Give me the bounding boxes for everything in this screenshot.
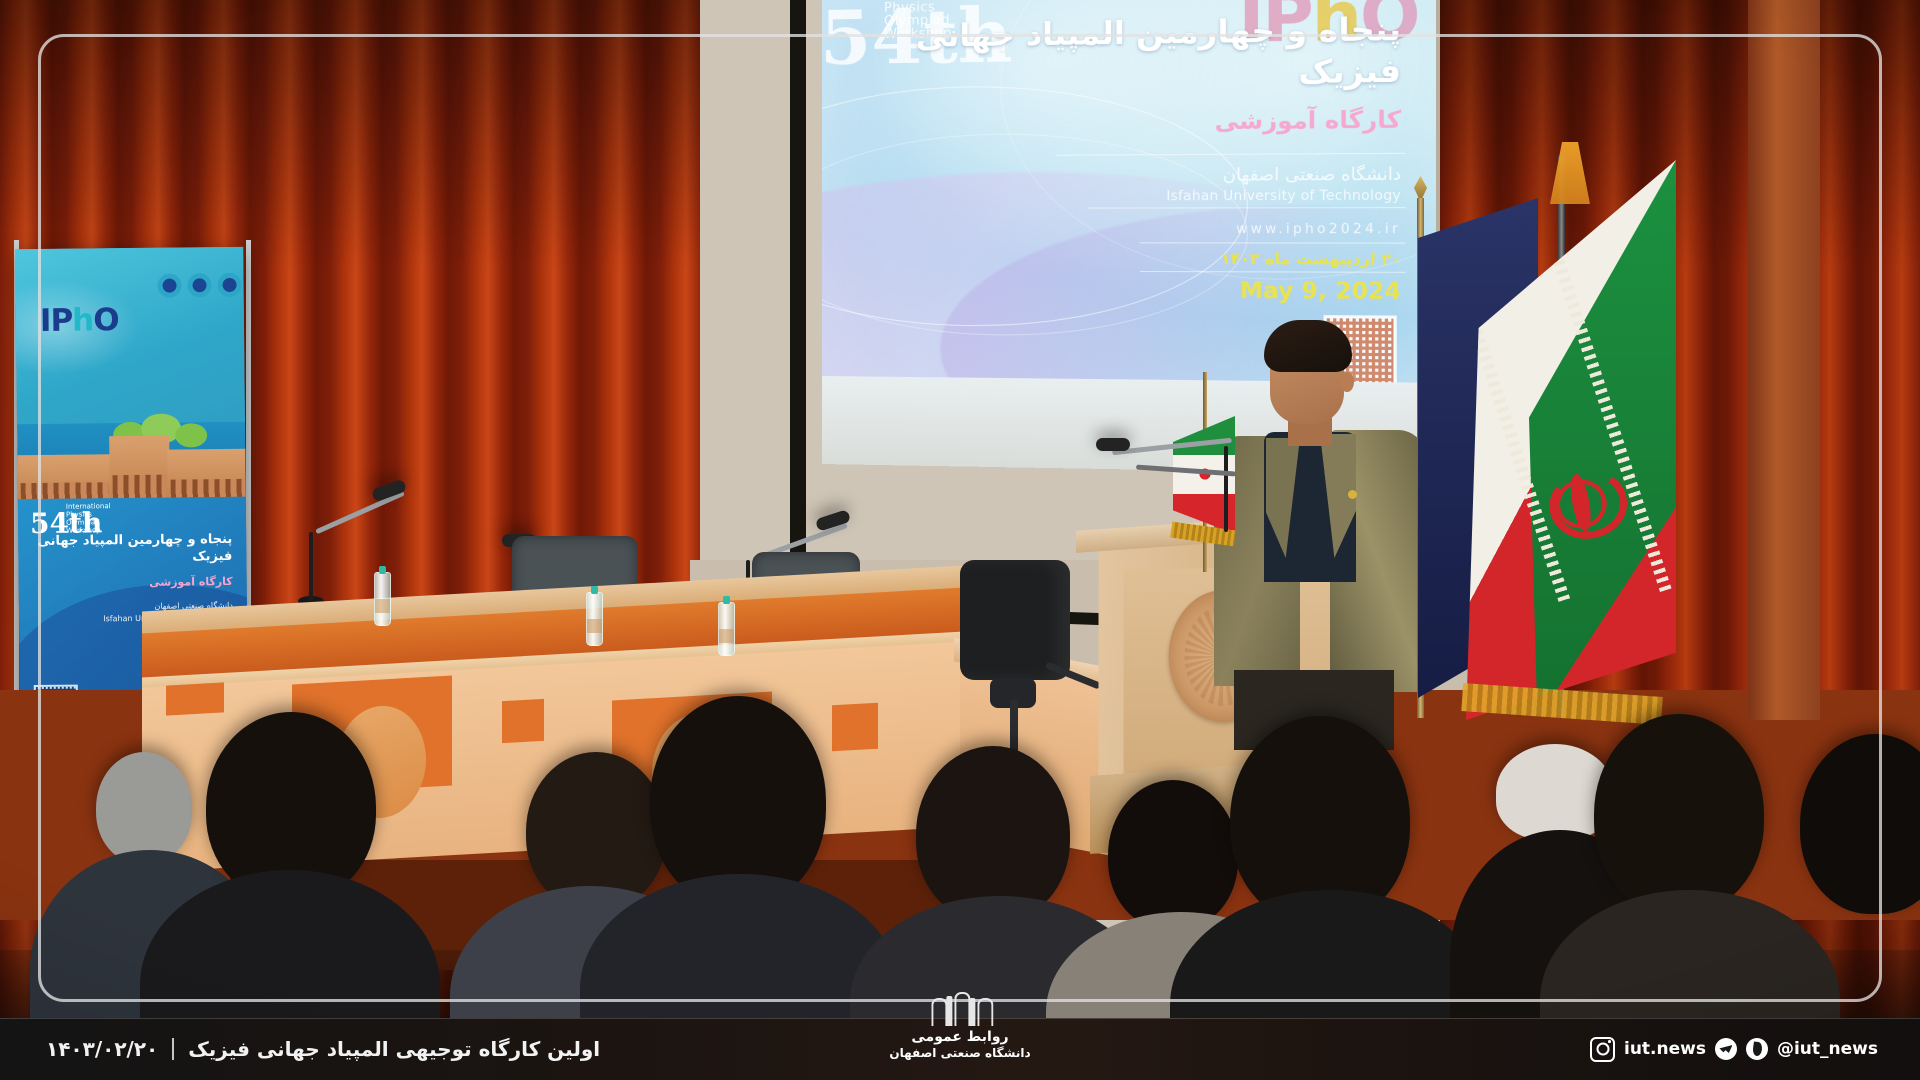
footer-caption-group: اولین کارگاه توجیهی المپیاد جهانی فیزیک … bbox=[46, 1018, 600, 1080]
iran-emblem-icon bbox=[1532, 453, 1628, 542]
podium-microphone bbox=[1096, 420, 1266, 520]
flag-finial-tassel-icon bbox=[1550, 142, 1590, 204]
bale-icon[interactable] bbox=[1746, 1038, 1768, 1060]
water-bottle-1 bbox=[374, 572, 391, 626]
footer-org-line1: روابط عمومی bbox=[911, 1029, 1008, 1045]
seal-icon-3 bbox=[217, 273, 241, 297]
audience-head bbox=[1594, 714, 1764, 914]
telegram-icon[interactable] bbox=[1715, 1038, 1737, 1060]
photo-canvas: IPhO 54th International Physics Olympiad… bbox=[0, 0, 1920, 1080]
lapel-pin-icon bbox=[1348, 490, 1357, 499]
screen-website: www.ipho2024.ir bbox=[1236, 222, 1401, 238]
footer-bar: اولین کارگاه توجیهی المپیاد جهانی فیزیک … bbox=[0, 1018, 1920, 1080]
wall-wood-column bbox=[1748, 0, 1820, 720]
iut-building-logo-icon bbox=[929, 992, 991, 1026]
footer-caption-fa: اولین کارگاه توجیهی المپیاد جهانی فیزیک bbox=[188, 1037, 600, 1061]
screen-org-en: Isfahan University of Technology bbox=[1166, 188, 1401, 204]
seal-icon-2 bbox=[187, 273, 211, 297]
seal-icon-1 bbox=[157, 273, 181, 297]
screen-org-fa: دانشگاه صنعتی اصفهان bbox=[1223, 163, 1401, 187]
screen-title-fa: پنجاه و چهارمین المپیاد جهانی فیزیک bbox=[822, 9, 1401, 98]
water-bottle-2 bbox=[586, 592, 603, 646]
audience-head bbox=[1800, 734, 1920, 914]
footer-social-group: iut.news @iut_news bbox=[1590, 1018, 1878, 1080]
standee-title-fa: پنجاه و چهارمین المپیاد جهانی فیزیک bbox=[18, 531, 232, 567]
naqsh-e-jahan-illustration bbox=[17, 395, 246, 507]
audience-head bbox=[1108, 780, 1238, 930]
standee-english-subtitle: International Physics Olympiad Workshop bbox=[66, 502, 111, 534]
public-relations-brand: روابط عمومی دانشگاه صنعتی اصفهان bbox=[889, 992, 1030, 1060]
footer-separator bbox=[172, 1038, 174, 1060]
screen-date-en: May 9, 2024 bbox=[1240, 279, 1401, 306]
screen-subtitle-fa: کارگاه آموزشی bbox=[1215, 107, 1401, 135]
audience-head bbox=[96, 752, 192, 864]
water-bottle-3 bbox=[718, 602, 735, 656]
footer-date-fa: ۱۴۰۳/۰۲/۲۰ bbox=[46, 1037, 158, 1061]
footer-org-line2: دانشگاه صنعتی اصفهان bbox=[889, 1046, 1030, 1060]
instagram-icon[interactable] bbox=[1590, 1037, 1615, 1062]
screen-date-fa: ۲۰ اردیبهشت ماه ۱۴۰۳ bbox=[1221, 250, 1401, 269]
bale-handle[interactable]: @iut_news bbox=[1777, 1039, 1878, 1059]
ipho-brand-mark-standee: IPhO bbox=[40, 302, 119, 339]
standee-subtitle-fa: کارگاه آموزشی bbox=[149, 575, 233, 589]
instagram-handle[interactable]: iut.news bbox=[1624, 1039, 1706, 1059]
